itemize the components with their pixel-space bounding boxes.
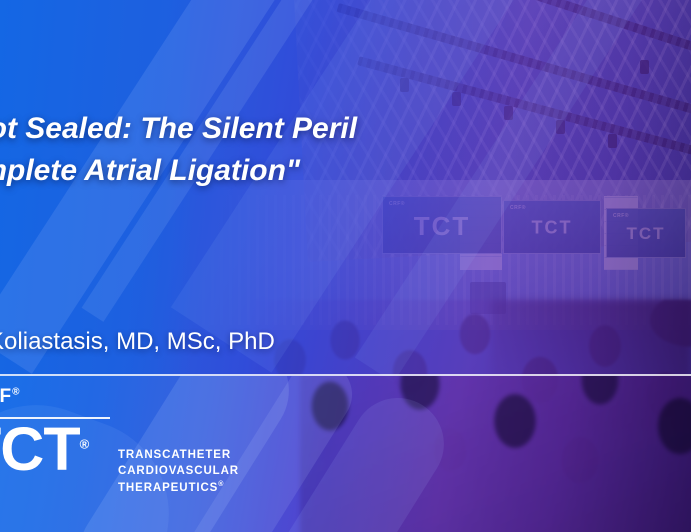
slide-title: d But Not Sealed: The Silent Peril of In… [0, 108, 642, 192]
tagline-line-3: THERAPEUTICS® [118, 480, 239, 496]
tagline-line-3-text: THERAPEUTICS [118, 482, 218, 494]
tagline-registered-mark: ® [218, 481, 224, 488]
title-line-1: d But Not Sealed: The Silent Peril [0, 108, 642, 150]
tagline-line-2: CARDIOVASCULAR [118, 463, 239, 479]
speaker-name: nidas Koliastasis, MD, MSc, PhD [0, 328, 684, 356]
tct-tagline: TRANSCATHETER CARDIOVASCULAR THERAPEUTIC… [118, 447, 239, 496]
crf-registered-mark: ® [12, 387, 20, 398]
crf-text: CRF [0, 386, 12, 407]
tct-wordmark: TCT® [0, 419, 88, 480]
title-line-2: of Incomplete Atrial Ligation" [0, 150, 642, 192]
tct-registered-mark: ® [80, 437, 89, 452]
crf-wordmark: CRF® [0, 386, 20, 408]
tct-text: TCT [0, 415, 80, 483]
presentation-title-slide: CRF® TCT CRF® TCT CRF® TCT d But Not Sea… [0, 0, 691, 532]
tagline-line-1: TRANSCATHETER [118, 447, 239, 463]
crf-tct-logo: CRF® TCT® TRANSCATHETER CARDIOVASCULAR T… [0, 386, 270, 506]
